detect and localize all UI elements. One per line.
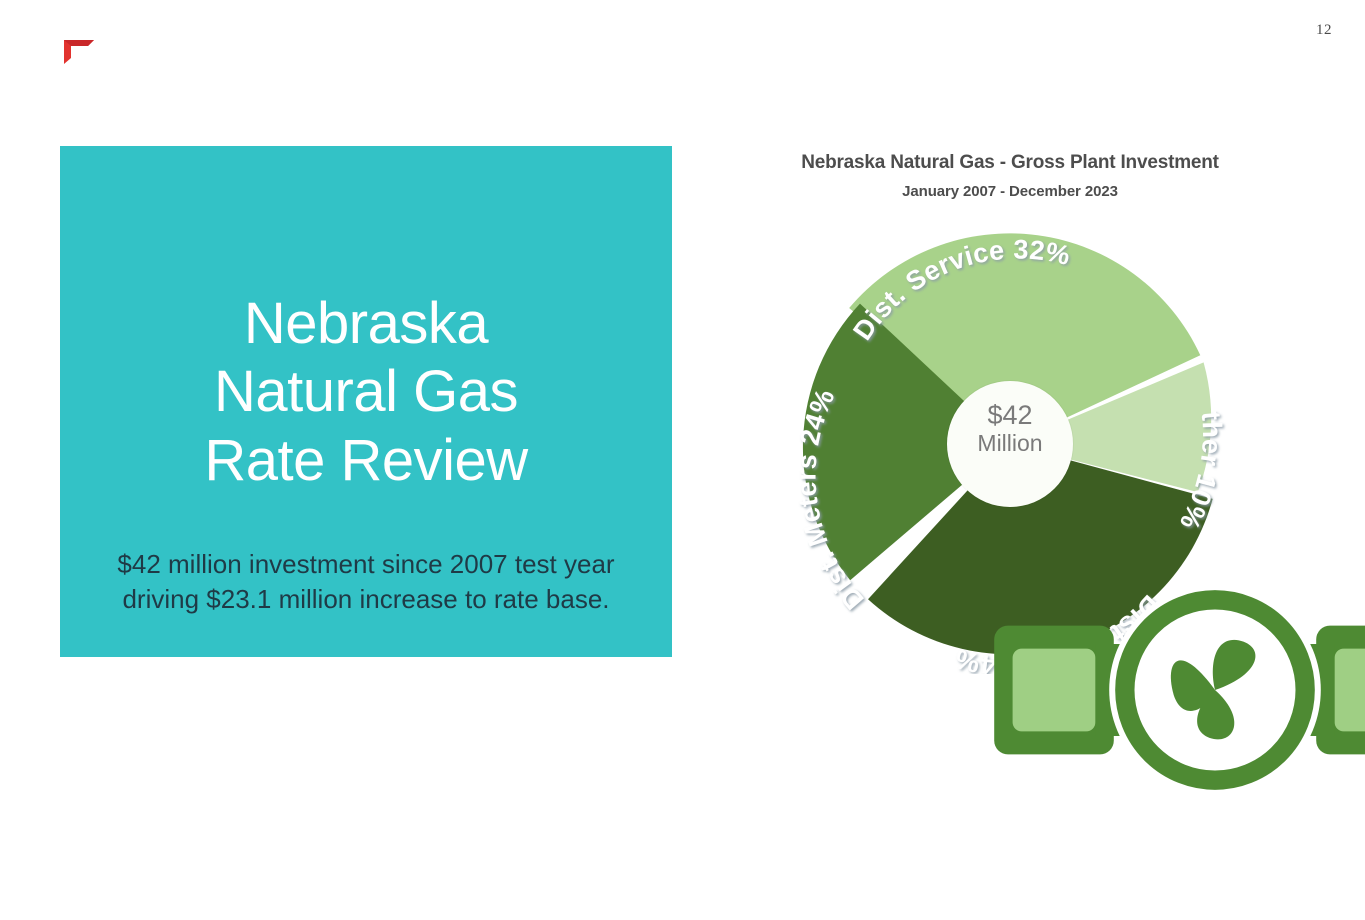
gas-valve-icon [985,460,1035,484]
pie-center-hub: $42 Million [947,381,1073,507]
panel-subtitle: $42 million investment since 2007 test y… [117,547,614,616]
brand-logo [62,32,96,66]
chart-title: Nebraska Natural Gas - Gross Plant Inves… [700,152,1320,174]
panel-title: Nebraska Natural Gas Rate Review [204,290,527,495]
title-panel: Nebraska Natural Gas Rate Review $42 mil… [60,146,672,657]
pie-chart-figure: Nebraska Natural Gas - Gross Plant Inves… [700,146,1320,686]
pie-wrap: Dist. Service 32% Other 10% Dist. Mains … [780,214,1240,674]
center-unit: Million [977,431,1042,456]
page-number: 12 [1316,22,1332,39]
center-amount: $42 [987,402,1032,429]
chart-subtitle: January 2007 - December 2023 [700,183,1320,200]
